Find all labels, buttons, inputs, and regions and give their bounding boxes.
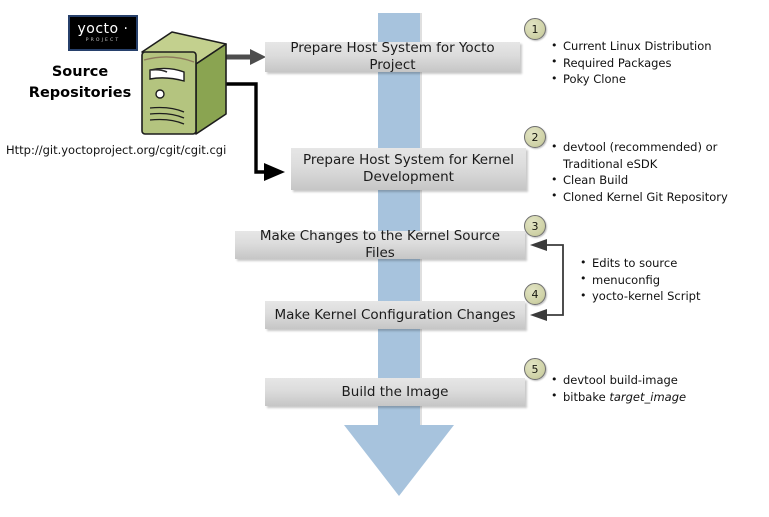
yocto-project-logo: yocto · PROJECT: [68, 15, 138, 51]
note-item: Poky Clone: [551, 71, 761, 88]
source-label-line1: Source: [20, 62, 140, 83]
diagram-canvas: yocto · PROJECT Source Repositories Http…: [0, 0, 769, 517]
note-item: Clean Build: [551, 172, 756, 189]
note-line2: Traditional eSDK: [563, 157, 657, 171]
step-number-2: 2: [524, 126, 546, 148]
note-item: Current Linux Distribution: [551, 38, 761, 55]
note-item: yocto-kernel Script: [580, 288, 750, 305]
step-number-1: 1: [524, 18, 546, 40]
box-prepare-host-kernel[interactable]: Prepare Host System for Kernel Developme…: [291, 148, 526, 190]
flow-spine: [378, 13, 420, 425]
arrowhead-box2: [264, 163, 285, 181]
arrowhead-step3: [530, 239, 547, 251]
notes-step-1: Current Linux Distribution Required Pack…: [551, 38, 761, 88]
logo-subtext: PROJECT: [86, 37, 121, 44]
notes-step-5: devtool build-image bitbake target_image: [551, 372, 751, 405]
note-item: bitbake target_image: [551, 389, 751, 406]
flow-arrowhead: [344, 425, 454, 496]
note-item: menuconfig: [580, 272, 750, 289]
repository-url: Http://git.yoctoproject.org/cgit/cgit.cg…: [6, 143, 226, 157]
box-make-kernel-config-changes[interactable]: Make Kernel Configuration Changes: [265, 301, 525, 329]
note-item: Cloned Kernel Git Repository: [551, 189, 756, 206]
box-build-the-image[interactable]: Build the Image: [265, 378, 525, 406]
notes-step-2: devtool (recommended) or Traditional eSD…: [551, 139, 756, 205]
note-item: Edits to source: [580, 255, 750, 272]
box-prepare-host-yocto[interactable]: Prepare Host System for Yocto Project: [265, 42, 520, 72]
note-item: Required Packages: [551, 55, 761, 72]
note-item: devtool build-image: [551, 372, 751, 389]
note-item: devtool (recommended) or Traditional eSD…: [551, 139, 756, 172]
notes-step-3-and-4: Edits to source menuconfig yocto-kernel …: [580, 255, 750, 305]
step-number-4: 4: [524, 283, 546, 305]
note-line1: devtool (recommended) or: [563, 140, 717, 154]
logo-wordmark: yocto ·: [77, 23, 128, 36]
box-make-changes-kernel-source[interactable]: Make Changes to the Kernel Source Files: [235, 231, 525, 259]
step-number-5: 5: [524, 358, 546, 380]
bracket-step34: [545, 245, 563, 315]
arrowhead-box1: [250, 49, 266, 65]
note-command: bitbake: [563, 390, 609, 404]
note-command-arg: target_image: [609, 390, 686, 404]
source-repositories-label: Source Repositories: [20, 62, 140, 104]
source-label-line2: Repositories: [20, 83, 140, 104]
server-tower-icon: [138, 30, 230, 142]
arrowhead-step4: [530, 309, 547, 321]
step-number-3: 3: [524, 215, 546, 237]
